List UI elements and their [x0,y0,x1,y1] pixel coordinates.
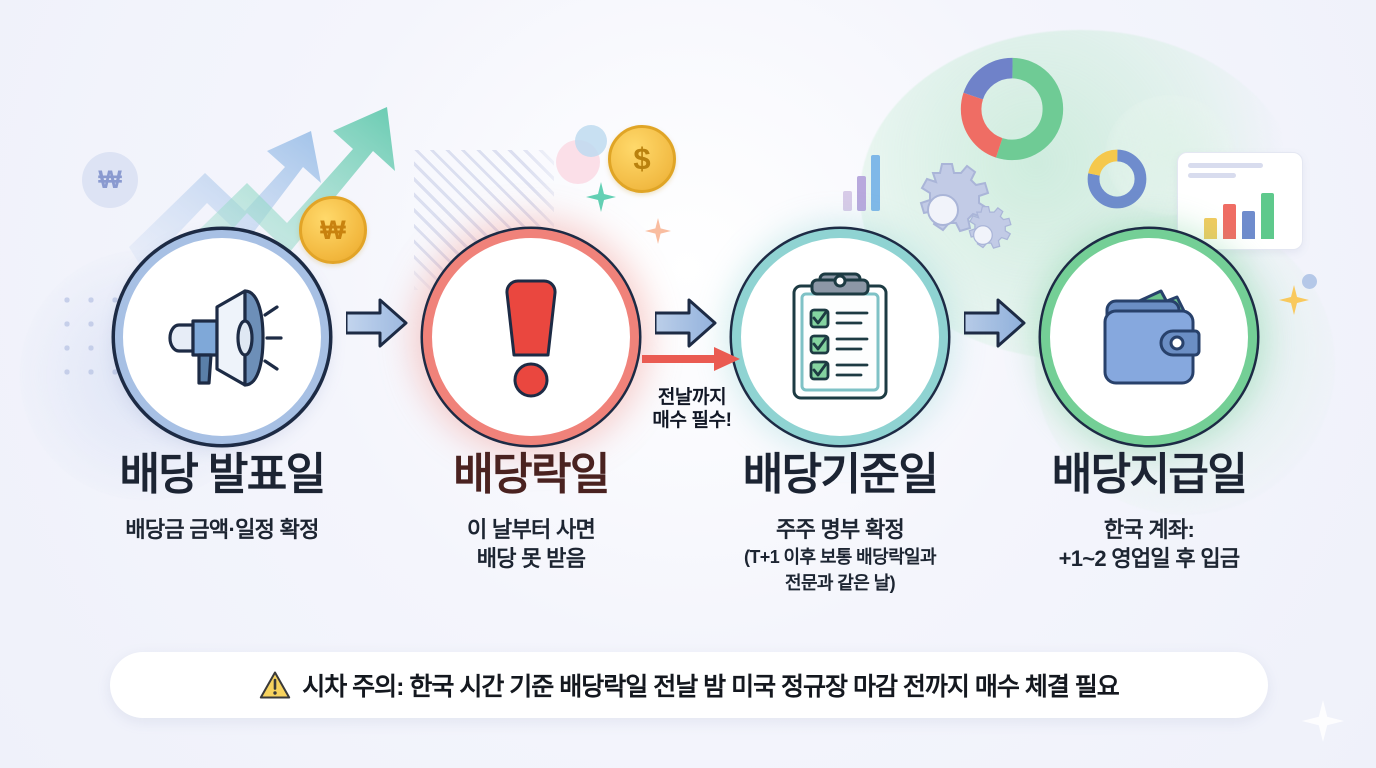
sparkle-white-icon [1302,700,1344,742]
step-4-subtitle-line-2: +1~2 영업일 후 입금 [1059,546,1240,571]
infographic-canvas: ₩ ₩ $ [0,0,1376,768]
wallet-icon [1087,279,1211,395]
step-1-labels: 배당 발표일 배당금 금액·일정 확정 [62,452,382,544]
sparkle-teal-icon [586,182,616,212]
step-3-labels: 배당기준일 주주 명부 확정 (T+1 이후 보통 배당락일과 전문과 같은 날… [680,452,1000,595]
step-4-title: 배당지급일 [989,452,1309,498]
decor-circle-blue [575,125,607,157]
step-1-title: 배당 발표일 [62,452,382,498]
sparkle-yellow-icon [1279,285,1309,315]
chart-card-line-2 [1188,173,1236,178]
sparkle-peach-icon [645,218,671,244]
step-1-subtitle: 배당금 금액·일정 확정 [62,515,382,544]
step-2-subtitle-line-1: 이 날부터 사면 [467,517,595,542]
step-2-circle [423,229,639,445]
step-2-subtitle-line-2: 배당 못 받음 [477,546,586,571]
chart-card-line-1 [1188,163,1263,168]
connector-arrow-1 [346,296,410,355]
mini-bar-chart-decoration [843,155,889,211]
step-3-subtitle: 주주 명부 확정 (T+1 이후 보통 배당락일과 전문과 같은 날) [680,515,1000,595]
deadline-arrow-icon [642,345,742,378]
warning-triangle-icon [259,670,291,700]
clipboard-checklist-icon [784,272,896,402]
step-3-subtitle-line-3: 전문과 같은 날) [680,572,1000,595]
deadline-note-line-1: 전날까지 [658,387,726,408]
step-2-labels: 배당락일 이 날부터 사면 배당 못 받음 [371,452,691,573]
step-4-subtitle-line-1: 한국 계좌: [1104,517,1194,542]
timezone-warning-banner: 시차 주의: 한국 시간 기준 배당락일 전날 밤 미국 정규장 마감 전까지 … [110,652,1268,718]
exclamation-icon [494,273,568,401]
step-2-subtitle: 이 날부터 사면 배당 못 받음 [371,515,691,573]
step-2-title: 배당락일 [371,452,691,498]
deadline-note: 전날까지 매수 필수! [612,386,772,432]
step-4-labels: 배당지급일 한국 계좌: +1~2 영업일 후 입금 [989,452,1309,573]
step-3-subtitle-line-1: 주주 명부 확정 [776,517,904,542]
dollar-coin-icon: $ [608,125,676,193]
timezone-warning-text: 시차 주의: 한국 시간 기준 배당락일 전날 밤 미국 정규장 마감 전까지 … [302,667,1119,703]
step-4-circle [1041,229,1257,445]
donut-chart-small-decoration [1086,148,1148,210]
step-3-subtitle-line-2: (T+1 이후 보통 배당락일과 [680,546,1000,569]
megaphone-icon [157,281,287,393]
step-1-circle [114,229,330,445]
deadline-note-line-2: 매수 필수! [652,410,731,431]
step-3-title: 배당기준일 [680,452,1000,498]
won-symbol-faded-icon: ₩ [82,152,138,208]
donut-chart-large-decoration [958,55,1066,163]
connector-arrow-3 [964,296,1028,355]
step-4-subtitle: 한국 계좌: +1~2 영업일 후 입금 [989,515,1309,573]
